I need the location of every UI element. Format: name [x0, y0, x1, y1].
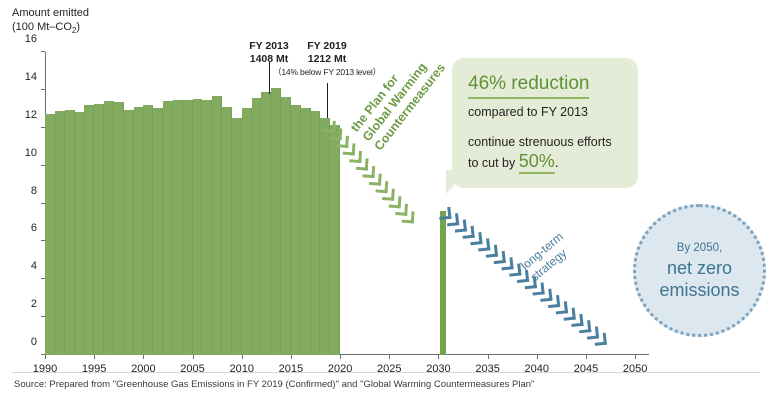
bar	[222, 107, 232, 355]
chart-page: Amount emitted(100 Mt–CO2) 0246810121416…	[0, 0, 772, 400]
fy2019-label-line1: FY 2019	[307, 40, 347, 52]
x-tick-label: 2025	[377, 363, 401, 375]
fy2013-label-line2: 1408 Mt	[250, 53, 289, 65]
bar	[232, 118, 242, 355]
source-note: Source: Prepared from "Greenhouse Gas Em…	[14, 379, 534, 390]
bar	[114, 102, 124, 355]
reduction-callout: 46% reduction compared to FY 2013 contin…	[452, 58, 638, 188]
x-tick	[94, 355, 95, 359]
fy2019-annotation: FY 2019 1212 Mt （14% below FY 2013 level…	[296, 40, 358, 66]
x-tick-label: 2035	[475, 363, 499, 375]
x-tick	[143, 355, 144, 359]
x-tick	[291, 355, 292, 359]
x-tick-label: 2045	[574, 363, 598, 375]
y-tick-label: 16	[25, 33, 37, 45]
fy2019-label-line2: 1212 Mt	[308, 53, 347, 65]
x-tick-label: 2015	[279, 363, 303, 375]
callout-body-percent: 50%	[519, 151, 555, 174]
callout-body-suffix: .	[555, 154, 559, 170]
bar	[65, 110, 75, 355]
bar	[202, 100, 212, 355]
x-tick-label: 1995	[82, 363, 106, 375]
circle-line1: By 2050,	[677, 241, 722, 255]
circle-line3: emissions	[659, 279, 739, 301]
callout-body: continue strenuous efforts to cut by 50%…	[468, 133, 624, 174]
bar	[153, 108, 163, 355]
y-tick-label: 8	[31, 185, 37, 197]
bar	[94, 104, 104, 355]
x-tick-label: 2020	[328, 363, 352, 375]
bar	[75, 112, 85, 355]
bar	[104, 101, 114, 355]
y-tick-label: 14	[25, 71, 37, 83]
callout-headline: 46% reduction	[468, 72, 589, 99]
fy2013-label-line1: FY 2013	[249, 40, 289, 52]
y-tick-label: 2	[31, 298, 37, 310]
bar	[143, 105, 153, 355]
chevron-icon	[402, 211, 415, 224]
y-tick-label: 0	[31, 336, 37, 348]
x-tick	[488, 355, 489, 359]
bar	[281, 97, 291, 355]
bar	[301, 108, 311, 355]
bar	[271, 88, 281, 355]
y-tick	[41, 89, 45, 90]
bar	[173, 100, 183, 355]
chevron-icon	[594, 333, 607, 346]
bar	[163, 101, 173, 355]
y-tick-label: 4	[31, 260, 37, 272]
callout-subline: compared to FY 2013	[468, 105, 624, 119]
bar	[261, 92, 271, 355]
x-tick	[389, 355, 390, 359]
bar	[124, 110, 134, 355]
bar	[212, 96, 222, 355]
x-tick-label: 2005	[180, 363, 204, 375]
bar	[320, 118, 330, 355]
bar	[193, 99, 203, 355]
bar	[440, 211, 446, 355]
x-tick-label: 2030	[426, 363, 450, 375]
y-axis-title-line1: Amount emitted	[12, 7, 89, 19]
bar	[311, 111, 321, 355]
fy2019-label-sub: （14% below FY 2013 level）	[268, 66, 386, 79]
callout-body-line1: continue strenuous efforts	[468, 135, 612, 149]
net-zero-circle: By 2050, net zero emissions	[633, 204, 766, 337]
y-axis-title-line2: (100 Mt–CO2)	[12, 21, 80, 33]
circle-line2: net zero	[667, 257, 732, 279]
y-tick-label: 6	[31, 222, 37, 234]
callout-body-prefix: to cut by	[468, 156, 519, 170]
x-tick	[635, 355, 636, 359]
x-tick	[438, 355, 439, 359]
bar	[252, 98, 262, 355]
x-tick	[45, 355, 46, 359]
bar	[55, 111, 65, 355]
fy2013-annotation: FY 2013 1408 Mt	[238, 40, 300, 66]
x-tick-label: 1990	[33, 363, 57, 375]
footer-divider	[12, 372, 760, 373]
x-tick	[193, 355, 194, 359]
x-tick	[586, 355, 587, 359]
x-tick	[340, 355, 341, 359]
y-tick-label: 10	[25, 147, 37, 159]
bar	[291, 105, 301, 355]
bar	[134, 107, 144, 355]
x-tick	[242, 355, 243, 359]
y-tick	[41, 51, 45, 52]
x-tick-label: 2000	[131, 363, 155, 375]
fy2019-leader-line	[327, 83, 328, 118]
x-tick-label: 2010	[229, 363, 253, 375]
bar	[45, 114, 55, 355]
y-tick-label: 12	[25, 109, 37, 121]
bar	[84, 105, 94, 355]
x-tick-label: 2050	[623, 363, 647, 375]
y-axis-title: Amount emitted(100 Mt–CO2)	[12, 6, 89, 38]
x-tick-label: 2040	[525, 363, 549, 375]
bar	[330, 125, 340, 355]
x-tick	[537, 355, 538, 359]
bar	[242, 108, 252, 355]
bar	[183, 100, 193, 355]
